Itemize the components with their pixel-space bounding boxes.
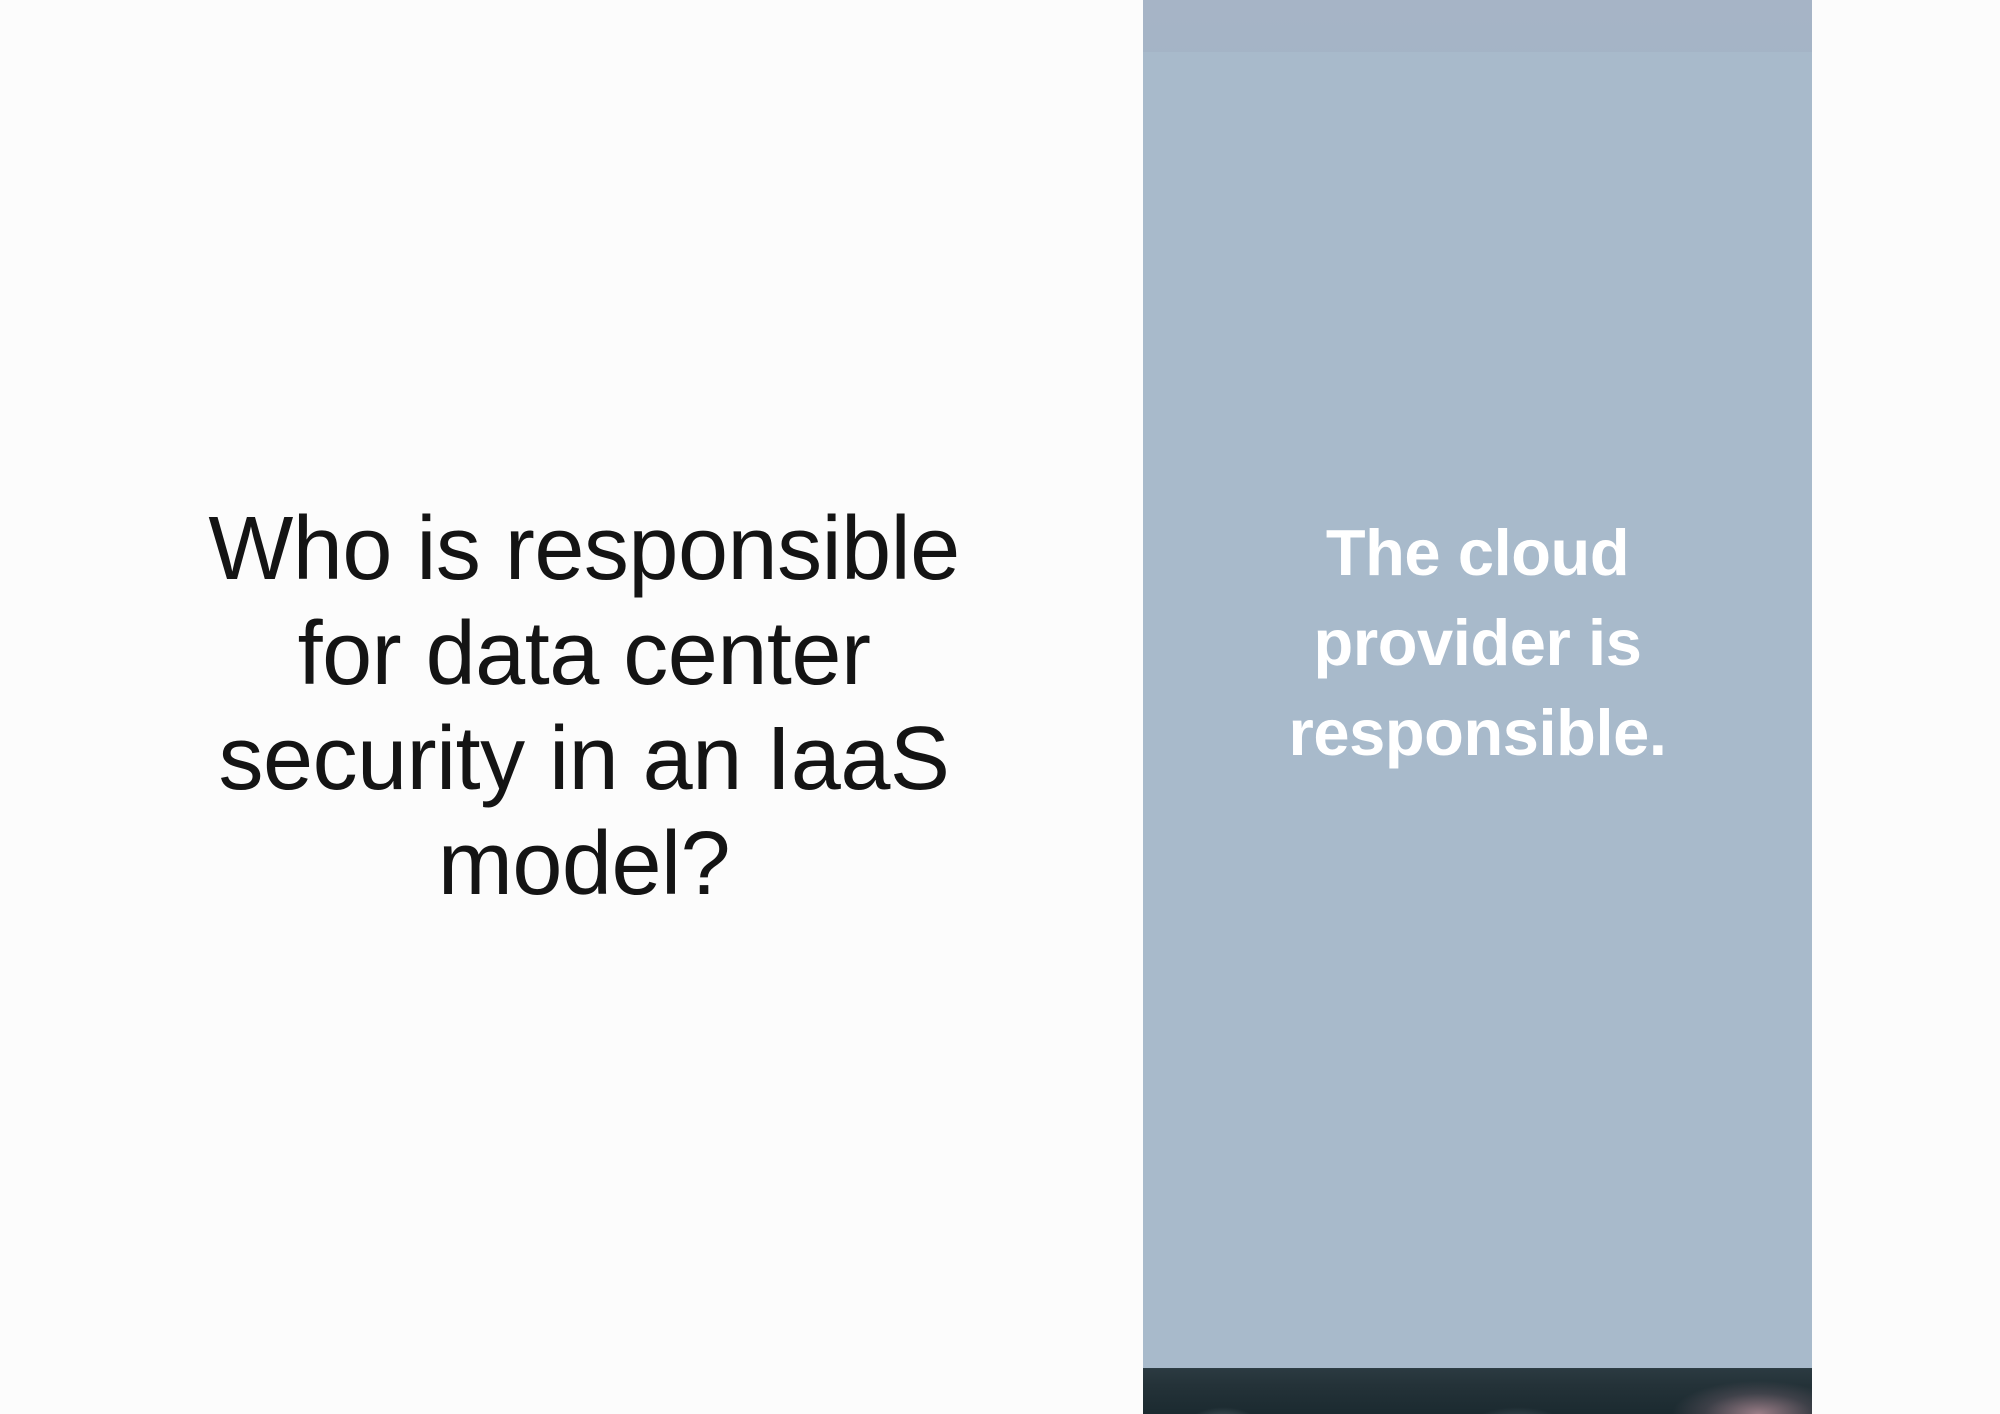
- answer-pane: The cloud provider is responsible.: [1143, 0, 1812, 1414]
- flashcard-slide: Who is responsible for data center secur…: [0, 0, 2000, 1414]
- right-margin: [1812, 0, 2000, 1414]
- answer-text: The cloud provider is responsible.: [1143, 508, 1812, 778]
- question-pane: Who is responsible for data center secur…: [0, 0, 1143, 1414]
- question-text: Who is responsible for data center secur…: [169, 497, 999, 917]
